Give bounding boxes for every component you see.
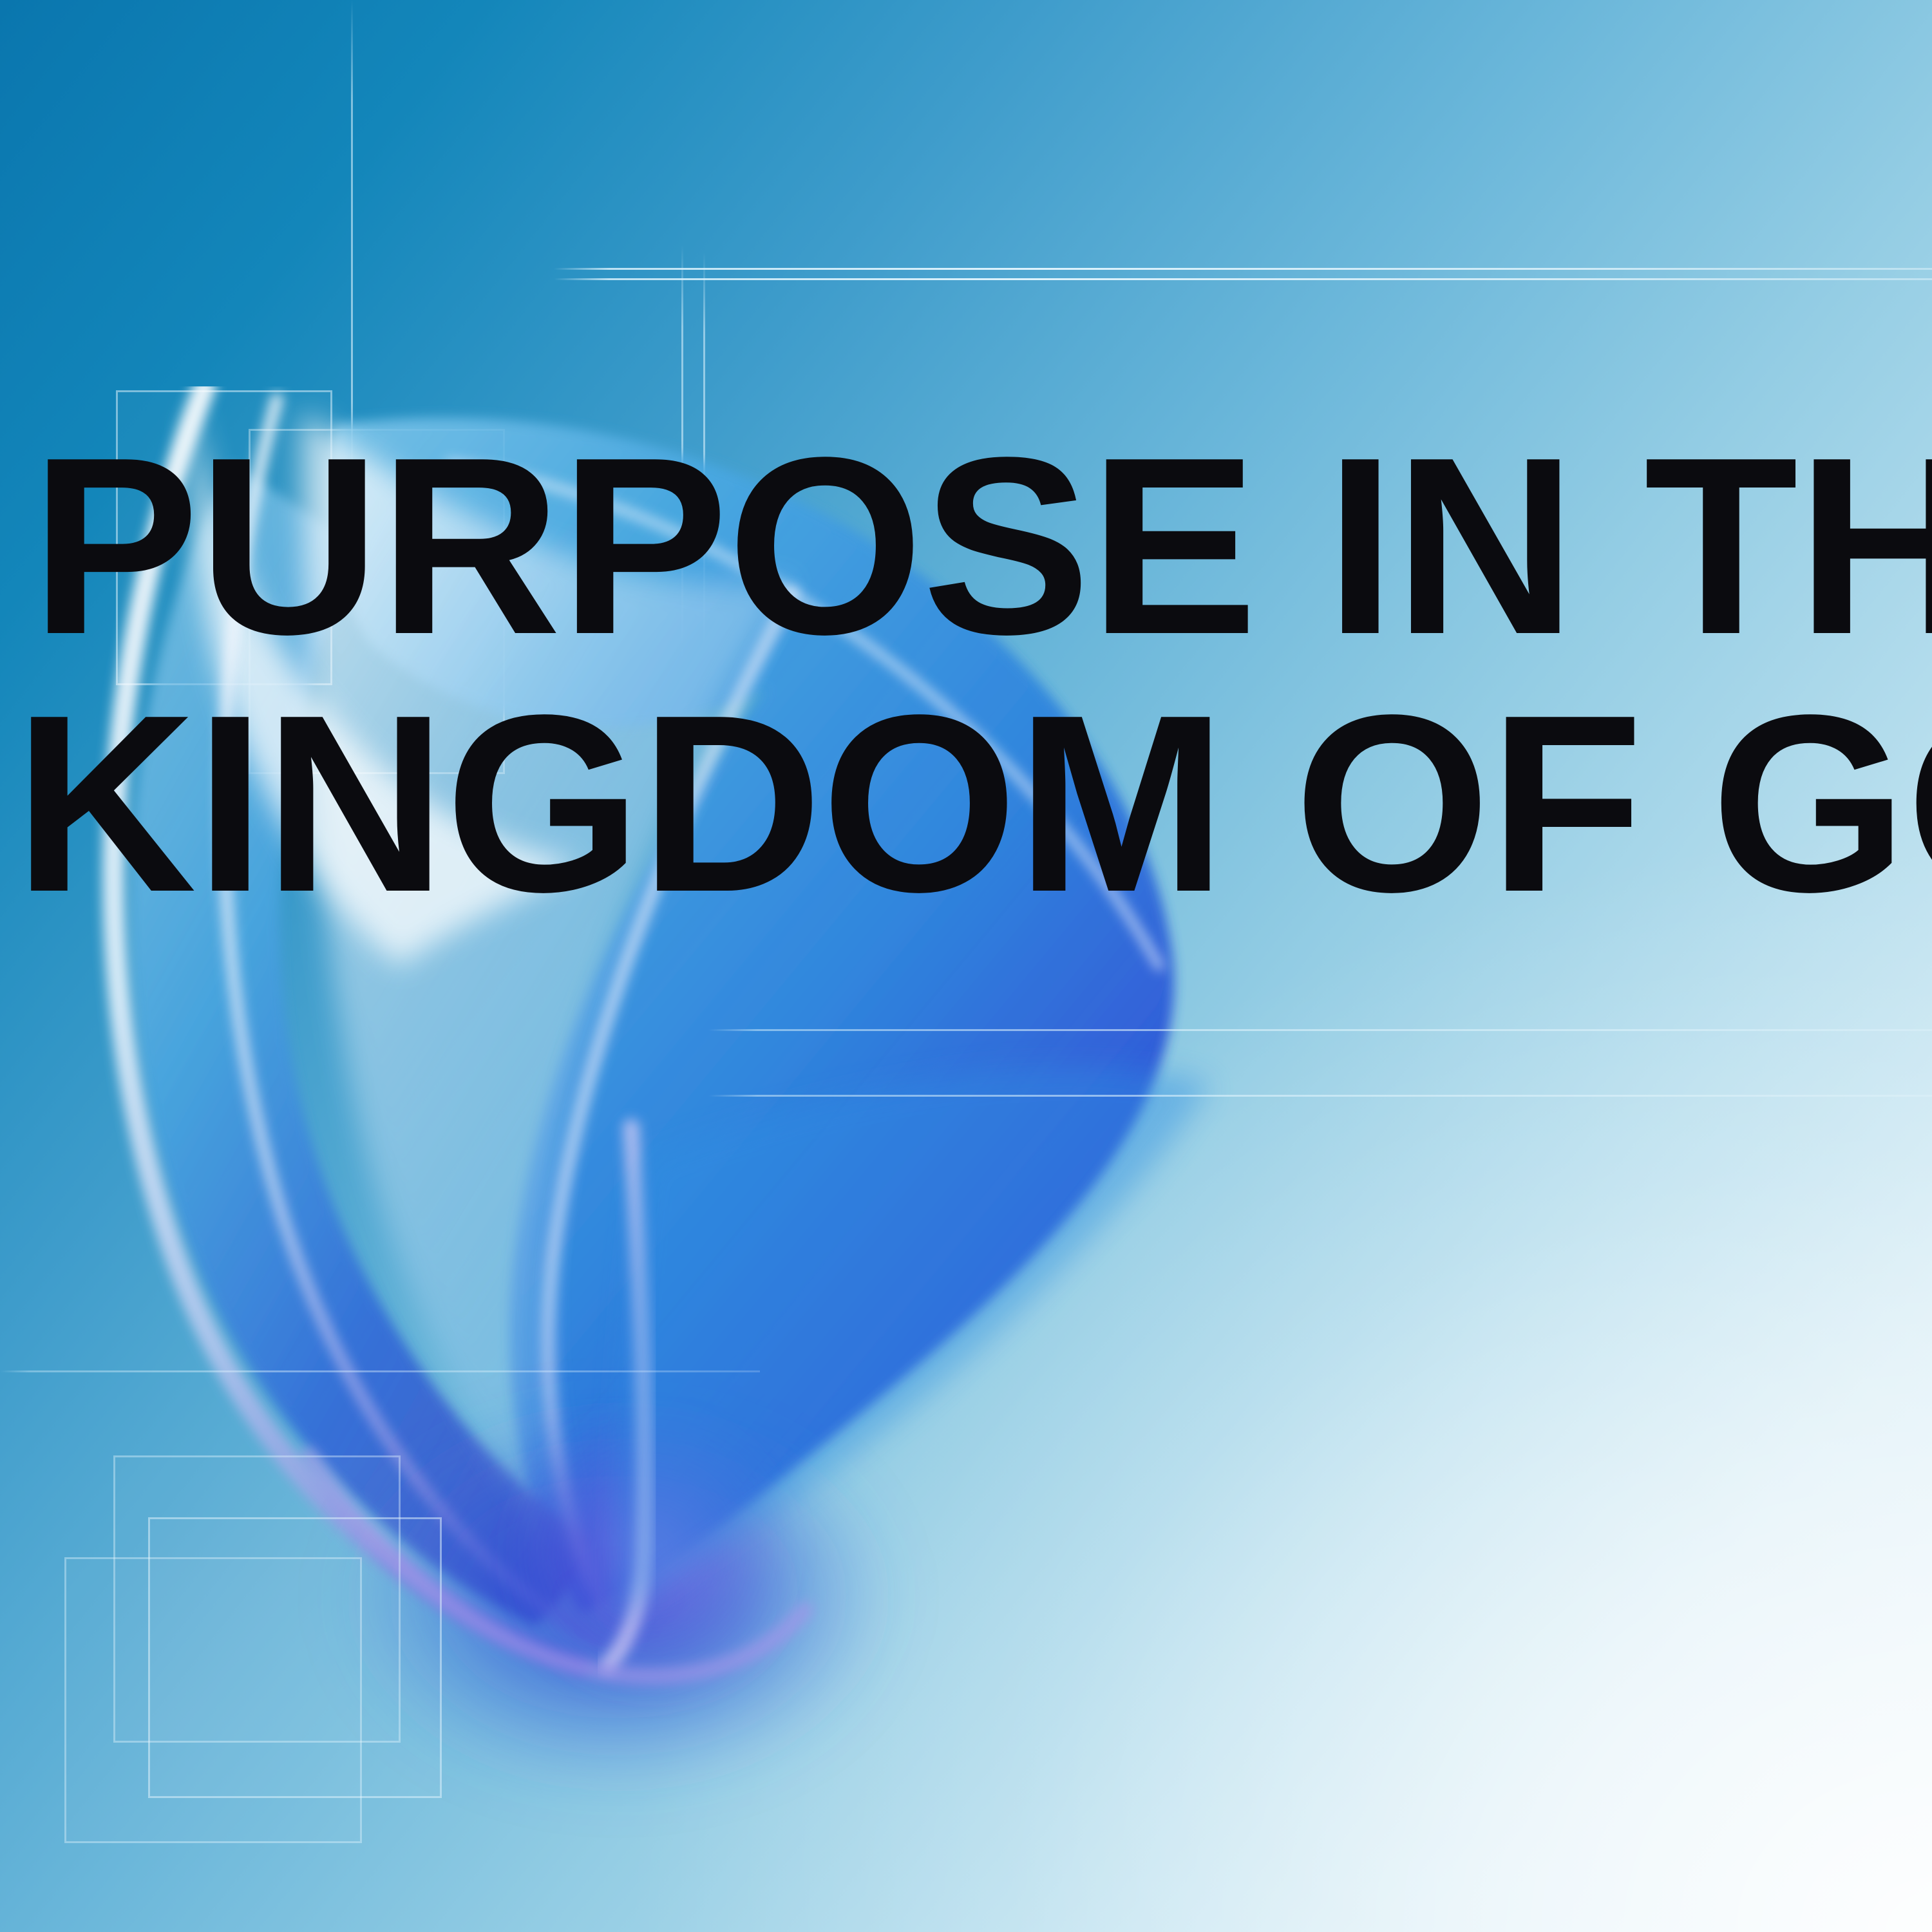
ribbon-neck-filament — [609, 1127, 645, 1665]
ribbon-tail-curl — [309, 1455, 805, 1676]
slide-title-line-2: KINGDOM OF GOD — [14, 675, 1932, 933]
slide-title-line-1: PURPOSE IN THE — [31, 417, 1932, 675]
decorative-horizontal-line-top-b — [554, 278, 1932, 280]
ribbon-deep-glow — [341, 1404, 895, 1790]
decorative-rectangle-lower-a — [148, 1517, 442, 1798]
presentation-slide: PURPOSE IN THE KINGDOM OF GOD — [0, 0, 1932, 1932]
ribbon-right-wing — [614, 1066, 1211, 1626]
decorative-horizontal-line-mid-a — [708, 1029, 1932, 1031]
decorative-horizontal-line-lower — [0, 1370, 760, 1372]
decorative-rectangle-lower-c — [113, 1455, 401, 1743]
decorative-horizontal-line-top-a — [554, 268, 1932, 270]
ribbon-violet-glow — [502, 1404, 799, 1700]
slide-title: PURPOSE IN THE KINGDOM OF GOD — [31, 417, 1932, 933]
decorative-horizontal-line-mid-b — [708, 1095, 1932, 1097]
decorative-rectangle-lower-b — [64, 1557, 362, 1843]
